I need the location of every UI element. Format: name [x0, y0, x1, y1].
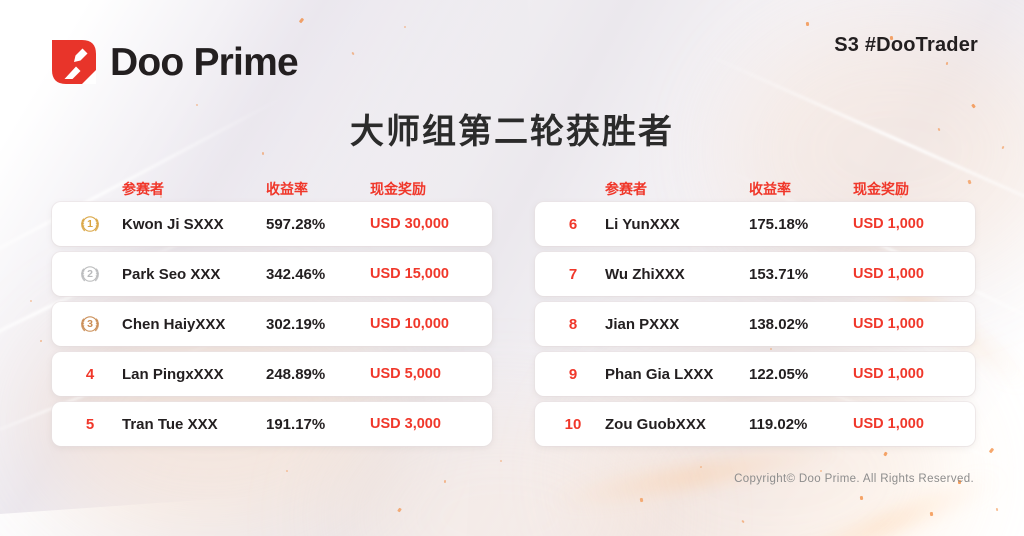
participant-name: Li YunXXX	[593, 216, 749, 233]
rank-number: 9	[553, 366, 593, 383]
column-header-participant: 参赛者	[110, 179, 266, 199]
return-rate: 175.18%	[749, 216, 853, 233]
return-rate: 597.28%	[266, 216, 370, 233]
rank-number: 3	[87, 318, 93, 330]
rank-number: 2	[87, 268, 93, 280]
return-rate: 342.46%	[266, 266, 370, 283]
leaderboard-row[interactable]: 10Zou GuobXXX119.02%USD 1,000	[535, 402, 975, 446]
leaderboard-left-rows: 1Kwon Ji SXXX597.28%USD 30,0002Park Seo …	[52, 202, 492, 452]
column-header-cash-prize: 现金奖励	[853, 179, 957, 199]
cash-prize: USD 5,000	[370, 366, 474, 382]
leaderboard-row[interactable]: 6Li YunXXX175.18%USD 1,000	[535, 202, 975, 246]
leaderboard-row[interactable]: 1Kwon Ji SXXX597.28%USD 30,000	[52, 202, 492, 246]
leaderboard-right-header: 参赛者 收益率 现金奖励	[535, 176, 975, 202]
return-rate: 191.17%	[266, 416, 370, 433]
cash-prize: USD 1,000	[853, 316, 957, 332]
participant-name: Jian PXXX	[593, 316, 749, 333]
rank-medal-badge: 1	[70, 213, 110, 235]
column-header-return-rate: 收益率	[749, 179, 853, 199]
return-rate: 153.71%	[749, 266, 853, 283]
leaderboard-row[interactable]: 5Tran Tue XXX191.17%USD 3,000	[52, 402, 492, 446]
participant-name: Kwon Ji SXXX	[110, 216, 266, 233]
leaderboard-row[interactable]: 3Chen HaiyXXX302.19%USD 10,000	[52, 302, 492, 346]
cash-prize: USD 1,000	[853, 266, 957, 282]
rank-number: 10	[553, 416, 593, 433]
confetti-speck	[996, 508, 998, 511]
confetti-speck	[444, 480, 446, 483]
cash-prize: USD 10,000	[370, 316, 474, 332]
leaderboard-row[interactable]: 9Phan Gia LXXX122.05%USD 1,000	[535, 352, 975, 396]
cash-prize: USD 1,000	[853, 216, 957, 232]
brand-logo[interactable]: Doo Prime	[52, 40, 298, 84]
participant-name: Park Seo XXX	[110, 266, 266, 283]
return-rate: 119.02%	[749, 416, 853, 433]
leaderboard-left-header: 参赛者 收益率 现金奖励	[52, 176, 492, 202]
return-rate: 248.89%	[266, 366, 370, 383]
cash-prize: USD 3,000	[370, 416, 474, 432]
rank-number: 4	[70, 366, 110, 383]
rank-medal-badge: 3	[70, 313, 110, 335]
participant-name: Wu ZhiXXX	[593, 266, 749, 283]
return-rate: 122.05%	[749, 366, 853, 383]
confetti-speck	[860, 496, 863, 500]
leaderboard-right-rows: 6Li YunXXX175.18%USD 1,0007Wu ZhiXXX153.…	[535, 202, 975, 452]
participant-name: Phan Gia LXXX	[593, 366, 749, 383]
cash-prize: USD 30,000	[370, 216, 474, 232]
column-header-cash-prize: 现金奖励	[370, 179, 474, 199]
rank-number: 7	[553, 266, 593, 283]
leaderboard-row[interactable]: 7Wu ZhiXXX153.71%USD 1,000	[535, 252, 975, 296]
page-title: 大师组第二轮获胜者	[0, 104, 1024, 153]
rank-number: 6	[553, 216, 593, 233]
return-rate: 302.19%	[266, 316, 370, 333]
confetti-speck	[806, 22, 809, 26]
rank-number: 5	[70, 416, 110, 433]
campaign-hashtag: S3 #DooTrader	[834, 34, 978, 57]
cash-prize: USD 1,000	[853, 416, 957, 432]
rank-medal-badge: 2	[70, 263, 110, 285]
confetti-speck	[640, 498, 644, 502]
copyright-notice: Copyright© Doo Prime. All Rights Reserve…	[734, 473, 974, 485]
rank-number: 1	[87, 218, 93, 230]
participant-name: Zou GuobXXX	[593, 416, 749, 433]
doo-prime-logo-icon	[52, 40, 96, 84]
participant-name: Lan PingxXXX	[110, 366, 266, 383]
leaderboard-left: 参赛者 收益率 现金奖励 1Kwon Ji SXXX597.28%USD 30,…	[52, 176, 492, 452]
confetti-speck	[930, 512, 934, 516]
cash-prize: USD 15,000	[370, 266, 474, 282]
leaderboard-right: 参赛者 收益率 现金奖励 6Li YunXXX175.18%USD 1,0007…	[535, 176, 975, 452]
participant-name: Chen HaiyXXX	[110, 316, 266, 333]
leaderboard-row[interactable]: 8Jian PXXX138.02%USD 1,000	[535, 302, 975, 346]
poster-canvas: Doo Prime S3 #DooTrader 大师组第二轮获胜者 参赛者 收益…	[0, 0, 1024, 536]
column-header-participant: 参赛者	[593, 179, 749, 199]
leaderboard-row[interactable]: 2Park Seo XXX342.46%USD 15,000	[52, 252, 492, 296]
return-rate: 138.02%	[749, 316, 853, 333]
brand-name: Doo Prime	[110, 43, 298, 82]
cash-prize: USD 1,000	[853, 366, 957, 382]
rank-number: 8	[553, 316, 593, 333]
column-header-return-rate: 收益率	[266, 179, 370, 199]
participant-name: Tran Tue XXX	[110, 416, 266, 433]
leaderboard-row[interactable]: 4Lan PingxXXX248.89%USD 5,000	[52, 352, 492, 396]
